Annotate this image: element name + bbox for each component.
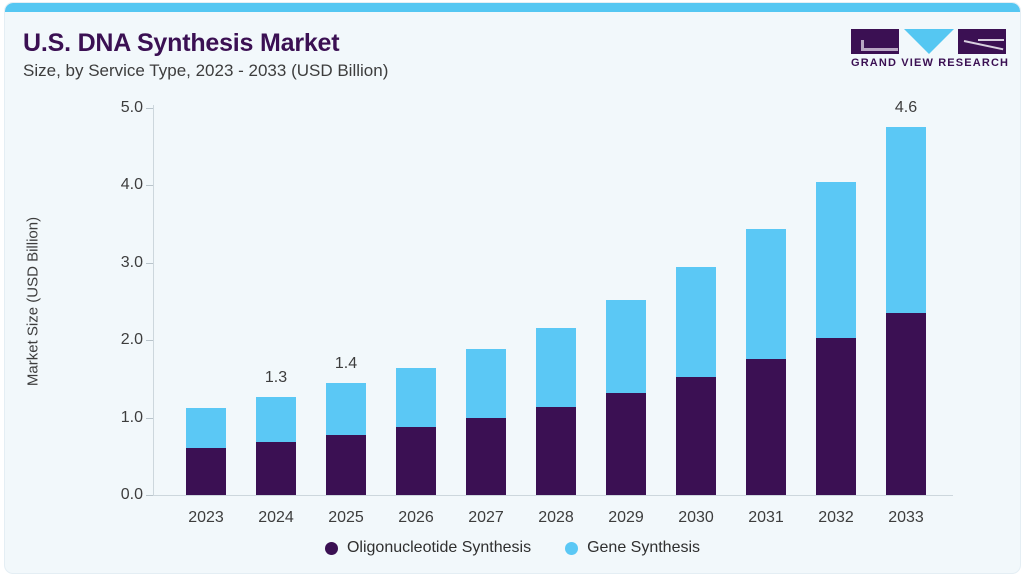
- y-axis-tick-mark: [146, 418, 153, 419]
- x-axis-tick-label-2026: 2026: [381, 509, 451, 527]
- y-axis-tick-mark: [146, 263, 153, 264]
- bar-segment-gene-synthesis[interactable]: [186, 408, 226, 448]
- bar-value-label-2033: 4.6: [871, 99, 941, 117]
- y-axis-tick-label: 3.0: [95, 254, 143, 272]
- chart-legend: Oligonucleotide SynthesisGene Synthesis: [5, 539, 1020, 557]
- bar-segment-gene-synthesis[interactable]: [396, 368, 436, 427]
- y-axis-tick-mark: [146, 495, 153, 496]
- x-axis-tick-label-2025: 2025: [311, 509, 381, 527]
- bar-segment-oligonucleotide-synthesis[interactable]: [326, 435, 366, 495]
- bar-value-label-2025: 1.4: [311, 355, 381, 373]
- chart-plot-area: Market Size (USD Billion) 0.01.02.03.04.…: [5, 3, 1020, 573]
- bar-2026[interactable]: [396, 368, 436, 495]
- bar-segment-gene-synthesis[interactable]: [326, 383, 366, 435]
- bar-2031[interactable]: [746, 229, 786, 495]
- bar-segment-gene-synthesis[interactable]: [816, 182, 856, 338]
- y-axis-tick-label: 0.0: [95, 486, 143, 504]
- bar-segment-oligonucleotide-synthesis[interactable]: [606, 393, 646, 495]
- x-axis-tick-label-2028: 2028: [521, 509, 591, 527]
- legend-label: Oligonucleotide Synthesis: [347, 539, 531, 557]
- y-axis-tick-label: 1.0: [95, 409, 143, 427]
- bar-segment-oligonucleotide-synthesis[interactable]: [886, 313, 926, 495]
- legend-item-gene-synthesis[interactable]: Gene Synthesis: [565, 539, 700, 557]
- bar-segment-oligonucleotide-synthesis[interactable]: [816, 338, 856, 495]
- legend-label: Gene Synthesis: [587, 539, 700, 557]
- x-axis-tick-label-2024: 2024: [241, 509, 311, 527]
- legend-item-oligonucleotide-synthesis[interactable]: Oligonucleotide Synthesis: [325, 539, 531, 557]
- y-axis-tick-label: 4.0: [95, 176, 143, 194]
- y-axis-tick-mark: [146, 108, 153, 109]
- bar-2028[interactable]: [536, 328, 576, 495]
- y-axis-tick-mark: [146, 185, 153, 186]
- bar-segment-gene-synthesis[interactable]: [536, 328, 576, 407]
- bar-segment-oligonucleotide-synthesis[interactable]: [536, 407, 576, 495]
- bar-segment-gene-synthesis[interactable]: [676, 267, 716, 377]
- bar-2024[interactable]: [256, 397, 296, 495]
- bar-segment-oligonucleotide-synthesis[interactable]: [256, 442, 296, 495]
- bar-segment-gene-synthesis[interactable]: [746, 229, 786, 359]
- y-axis-title: Market Size (USD Billion): [25, 152, 42, 452]
- x-axis-tick-label-2033: 2033: [871, 509, 941, 527]
- x-axis-line: [153, 495, 953, 496]
- legend-swatch-icon: [565, 542, 578, 555]
- bar-2027[interactable]: [466, 349, 506, 495]
- bar-2025[interactable]: [326, 383, 366, 495]
- bar-2023[interactable]: [186, 408, 226, 495]
- y-axis-line: [153, 105, 154, 496]
- bar-segment-oligonucleotide-synthesis[interactable]: [746, 359, 786, 495]
- x-axis-tick-label-2030: 2030: [661, 509, 731, 527]
- bar-segment-gene-synthesis[interactable]: [256, 397, 296, 443]
- bar-value-label-2024: 1.3: [241, 369, 311, 387]
- bar-segment-oligonucleotide-synthesis[interactable]: [676, 377, 716, 495]
- bar-2029[interactable]: [606, 300, 646, 495]
- y-axis-tick-label: 2.0: [95, 331, 143, 349]
- bar-2033[interactable]: [886, 127, 926, 495]
- x-axis-tick-label-2032: 2032: [801, 509, 871, 527]
- bar-segment-oligonucleotide-synthesis[interactable]: [466, 418, 506, 495]
- bar-segment-oligonucleotide-synthesis[interactable]: [186, 448, 226, 495]
- x-axis-tick-label-2023: 2023: [171, 509, 241, 527]
- bar-segment-gene-synthesis[interactable]: [606, 300, 646, 393]
- x-axis-tick-label-2029: 2029: [591, 509, 661, 527]
- bar-segment-gene-synthesis[interactable]: [886, 127, 926, 314]
- bar-2032[interactable]: [816, 182, 856, 495]
- y-axis-tick-mark: [146, 340, 153, 341]
- x-axis-tick-label-2027: 2027: [451, 509, 521, 527]
- bar-2030[interactable]: [676, 267, 716, 495]
- bar-segment-gene-synthesis[interactable]: [466, 349, 506, 417]
- x-axis-tick-label-2031: 2031: [731, 509, 801, 527]
- chart-card: U.S. DNA Synthesis Market Size, by Servi…: [5, 3, 1020, 573]
- y-axis-tick-label: 5.0: [95, 99, 143, 117]
- legend-swatch-icon: [325, 542, 338, 555]
- bar-segment-oligonucleotide-synthesis[interactable]: [396, 427, 436, 495]
